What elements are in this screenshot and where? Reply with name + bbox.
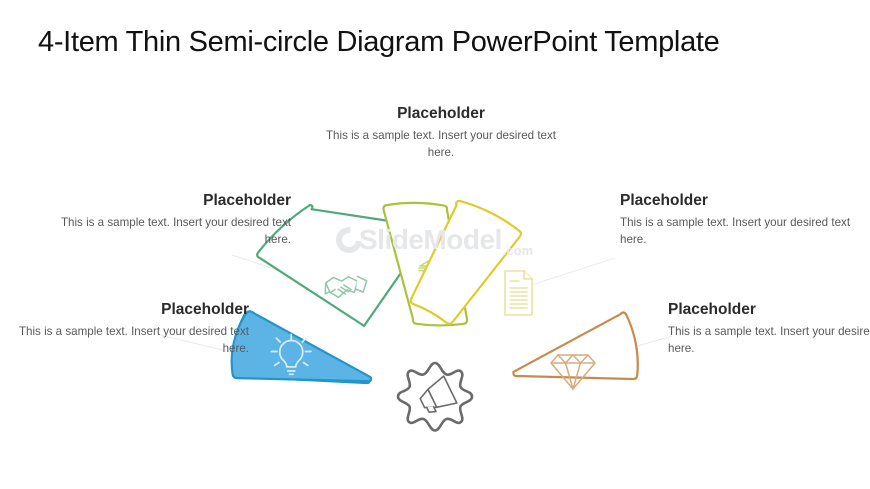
page-title: 4-Item Thin Semi-circle Diagram PowerPoi… [38, 26, 720, 59]
label-top-body: This is a sample text. Insert your desir… [321, 128, 561, 162]
label-left-upper-title: Placeholder [60, 191, 291, 210]
segment-5-diamond[interactable] [504, 312, 640, 389]
label-right-lower[interactable]: Placeholder This is a sample text. Inser… [668, 300, 870, 358]
slide-canvas: 4-Item Thin Semi-circle Diagram PowerPoi… [0, 0, 870, 489]
label-left-lower[interactable]: Placeholder This is a sample text. Inser… [18, 300, 249, 358]
label-right-upper-title: Placeholder [620, 191, 851, 210]
label-top-title: Placeholder [321, 104, 561, 123]
label-left-lower-title: Placeholder [18, 300, 249, 319]
segment-5-shape[interactable] [513, 313, 637, 380]
segment-1-lightbulb[interactable] [232, 311, 371, 383]
label-left-upper-body: This is a sample text. Insert your desir… [60, 215, 291, 249]
label-top[interactable]: Placeholder This is a sample text. Inser… [321, 104, 561, 162]
label-right-lower-title: Placeholder [668, 300, 870, 319]
document-icon [505, 271, 532, 315]
label-left-upper[interactable]: Placeholder This is a sample text. Inser… [60, 191, 291, 249]
center-badge[interactable] [398, 363, 472, 431]
label-right-upper[interactable]: Placeholder This is a sample text. Inser… [620, 191, 851, 249]
label-left-lower-body: This is a sample text. Insert your desir… [18, 324, 249, 358]
label-right-lower-body: This is a sample text. Insert your desir… [668, 324, 870, 358]
label-right-upper-body: This is a sample text. Insert your desir… [620, 215, 851, 249]
